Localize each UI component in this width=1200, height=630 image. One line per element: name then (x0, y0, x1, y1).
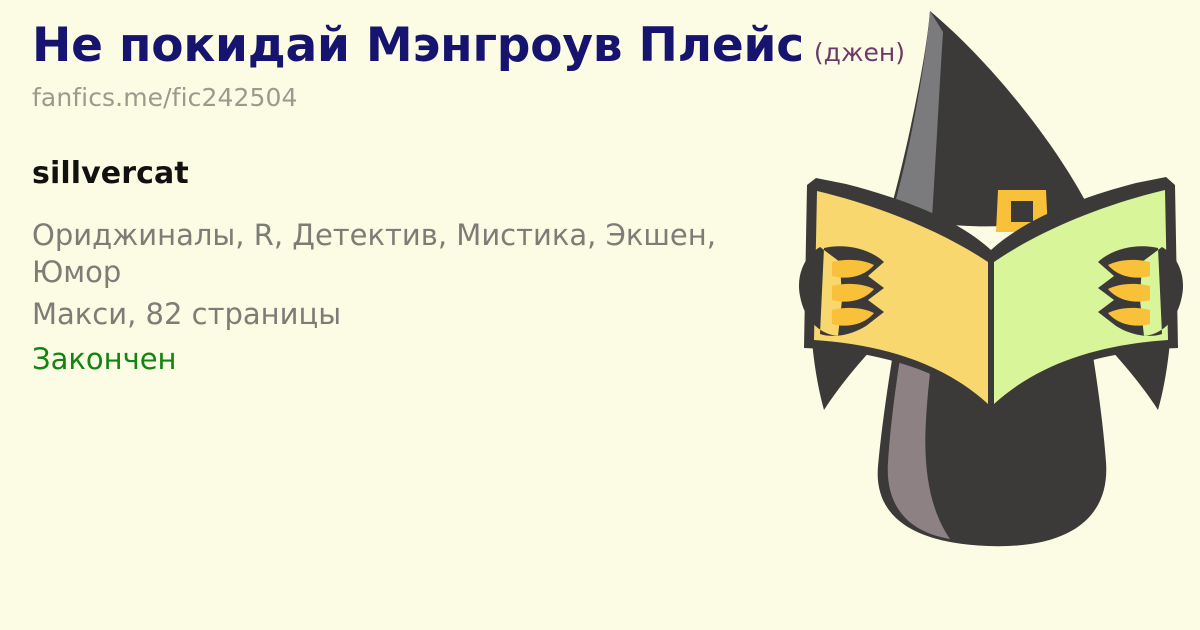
hat-cone (890, 11, 1090, 226)
hat-brim-right (1062, 204, 1152, 248)
fic-size: Макси, 82 страницы (32, 296, 802, 333)
author-name[interactable]: sillvercat (32, 156, 872, 191)
book-page-right (994, 190, 1168, 404)
right-hand-group (1098, 246, 1183, 336)
right-finger-3 (1108, 308, 1150, 326)
book-spine (989, 256, 993, 410)
fic-info-block: Не покидай Мэнгроув Плейс(джен) fanfics.… (32, 22, 872, 376)
title-row: Не покидай Мэнгроув Плейс(джен) (32, 22, 872, 69)
robe-group (878, 270, 1107, 546)
fic-category-label: (джен) (814, 38, 905, 67)
cloak-shoulder-right (1082, 208, 1172, 410)
right-finger-1 (1108, 260, 1150, 278)
fic-tags: Ориджиналы, R, Детектив, Мистика, Экшен,… (32, 217, 792, 291)
right-finger-2 (1108, 284, 1150, 302)
source-url[interactable]: fanfics.me/fic242504 (32, 83, 872, 112)
hat-buckle-hole (1011, 201, 1033, 222)
hat-buckle (996, 190, 1048, 232)
page-title: Не покидай Мэнгроув Плейс (32, 18, 804, 73)
right-hand (1098, 246, 1183, 336)
robe-body (878, 270, 1107, 546)
robe-highlight (888, 281, 950, 539)
status-badge: Закончен (32, 342, 872, 376)
fanfic-preview-card: Не покидай Мэнгроув Плейс(джен) fanfics.… (0, 0, 1200, 630)
